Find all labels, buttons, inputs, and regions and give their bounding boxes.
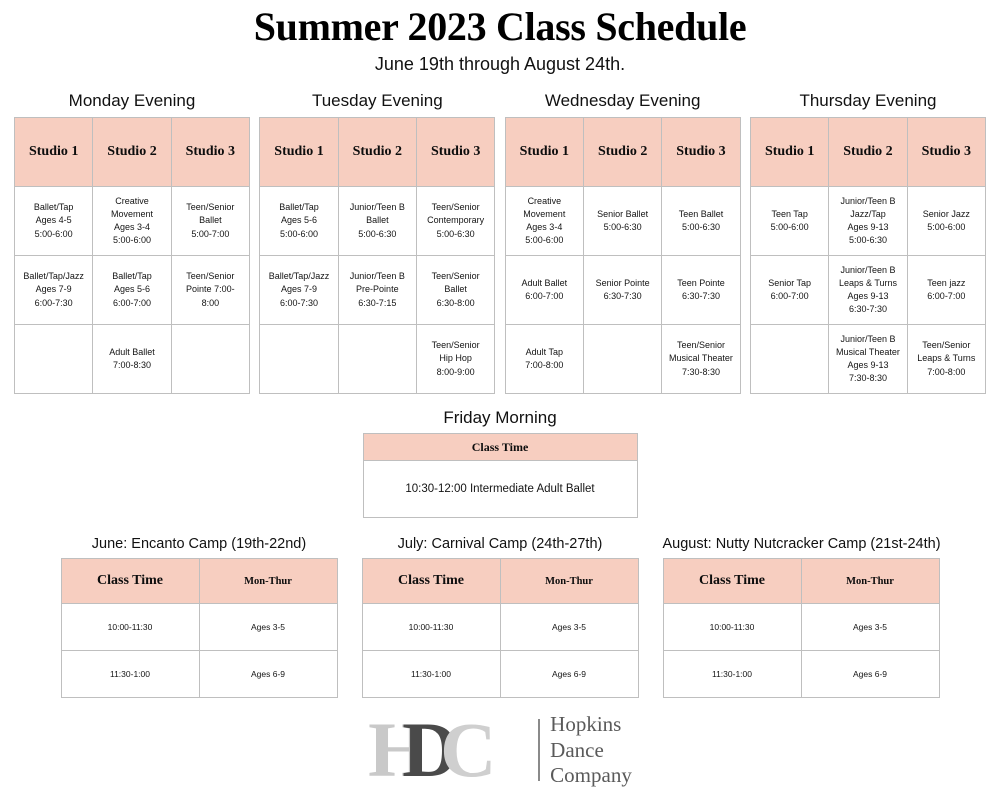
column-header-studio: Studio 3 [171,118,249,187]
logo-wordmark: Hopkins Dance Company [550,712,632,789]
friday-schedule: Friday Morning Class Time 10:30-12:00 In… [363,408,638,518]
class-cell: Teen Pointe6:30-7:30 [662,256,740,325]
class-cell-line: 6:00-7:00 [910,290,983,303]
class-cell-line: 5:00-6:00 [910,221,983,234]
class-cell-line: Teen/Senior [174,201,247,214]
class-cell: Ballet/TapAges 5-66:00-7:00 [93,256,171,325]
class-cell-line: 6:30-7:15 [341,297,414,310]
class-cell-line: Creative [508,195,581,208]
class-cell-line: Adult Ballet [508,277,581,290]
class-cell-line: Senior Tap [753,277,826,290]
class-cell: Teen/SeniorPointe 7:00-8:00 [171,256,249,325]
table-row: Ballet/TapAges 4-55:00-6:00CreativeMovem… [15,187,250,256]
table-row: 11:30-1:00Ages 6-9 [362,651,638,698]
class-cell-line: 7:00-8:30 [95,359,168,372]
class-cell-line: 6:30-8:00 [419,297,492,310]
class-cell-line: Ages 3-4 [508,221,581,234]
column-header-studio: Studio 2 [583,118,661,187]
table-row: Ballet/Tap/JazzAges 7-96:00-7:30Junior/T… [260,256,495,325]
column-header-studio: Studio 1 [750,118,828,187]
logo-line-dance: Dance [550,738,632,764]
friday-column-class-time: Class Time [363,434,637,461]
page-title: Summer 2023 Class Schedule [0,6,1000,48]
camp-ages-cell: Ages 6-9 [801,651,939,698]
class-cell-line: Movement [508,208,581,221]
class-cell-line: Pointe 7:00- [174,283,247,296]
class-cell: Teen Tap5:00-6:00 [750,187,828,256]
class-cell-line: Leaps & Turns [910,352,983,365]
table-row: 10:00-11:30Ages 3-5 [61,604,337,651]
class-cell: Senior Tap6:00-7:00 [750,256,828,325]
camp-ages-cell: Ages 3-5 [801,604,939,651]
class-cell-line: Creative [95,195,168,208]
day-heading: Tuesday Evening [259,91,495,111]
camp-time-cell: 11:30-1:00 [61,651,199,698]
day-heading: Wednesday Evening [505,91,741,111]
class-cell-line: Ages 5-6 [95,283,168,296]
class-cell: Teen/SeniorMusical Theater7:30-8:30 [662,325,740,394]
class-cell-line: Junior/Teen B [341,201,414,214]
table-header-row: Studio 1Studio 2Studio 3 [505,118,740,187]
class-cell: Junior/Teen BJazz/TapAges 9-135:00-6:30 [829,187,907,256]
hdc-monogram-icon: H D C [368,713,538,787]
camp-ages-cell: Ages 6-9 [199,651,337,698]
class-cell: CreativeMovementAges 3-45:00-6:00 [93,187,171,256]
table-row: CreativeMovementAges 3-45:00-6:00Senior … [505,187,740,256]
camp-table: Class TimeMon-Thur10:00-11:30Ages 3-511:… [61,558,338,698]
class-cell: Senior Pointe6:30-7:30 [583,256,661,325]
class-cell-line: Junior/Teen B [341,270,414,283]
table-row: Teen/SeniorHip Hop8:00-9:00 [260,325,495,394]
empty-cell [338,325,416,394]
column-header-days: Mon-Thur [500,559,638,604]
logo-line-hopkins: Hopkins [550,712,632,738]
class-cell-line: Ages 3-4 [95,221,168,234]
column-header-class-time: Class Time [61,559,199,604]
table-header-row: Studio 1Studio 2Studio 3 [260,118,495,187]
class-cell-line: Ballet/Tap [95,270,168,283]
class-cell-line: 8:00 [174,297,247,310]
class-cell-line: Adult Ballet [95,346,168,359]
empty-cell [260,325,338,394]
day-block: Wednesday EveningStudio 1Studio 2Studio … [505,91,741,394]
table-row: Junior/Teen BMusical TheaterAges 9-137:3… [750,325,985,394]
column-header-days: Mon-Thur [801,559,939,604]
class-cell-line: Senior Jazz [910,208,983,221]
weekday-schedules: Monday EveningStudio 1Studio 2Studio 3Ba… [0,91,1000,394]
class-cell-line: Teen Tap [753,208,826,221]
class-cell-line: Leaps & Turns [831,277,904,290]
camp-time-cell: 11:30-1:00 [362,651,500,698]
class-cell-line: Musical Theater [831,346,904,359]
class-cell: Junior/Teen BPre-Pointe6:30-7:15 [338,256,416,325]
class-cell-line: 6:30-7:30 [586,290,659,303]
class-cell-line: 5:00-6:00 [17,228,90,241]
column-header-studio: Studio 1 [505,118,583,187]
class-cell-line: Senior Ballet [586,208,659,221]
class-cell-line: 6:00-7:00 [95,297,168,310]
class-cell-line: Senior Pointe [586,277,659,290]
class-cell: Junior/Teen BBallet5:00-6:30 [338,187,416,256]
friday-class-entry: 10:30-12:00 Intermediate Adult Ballet [363,461,637,518]
class-cell: Adult Ballet6:00-7:00 [505,256,583,325]
class-cell: Ballet/Tap/JazzAges 7-96:00-7:30 [260,256,338,325]
class-cell-line: Ages 7-9 [262,283,335,296]
class-cell: Teen Ballet5:00-6:30 [662,187,740,256]
camp-schedules: June: Encanto Camp (19th-22nd)Class Time… [0,536,1000,698]
class-cell-line: Junior/Teen B [831,264,904,277]
class-cell-line: 5:00-6:30 [664,221,737,234]
day-schedule-table: Studio 1Studio 2Studio 3Ballet/TapAges 5… [259,117,495,394]
column-header-class-time: Class Time [362,559,500,604]
class-cell-line: Teen/Senior [910,339,983,352]
class-cell: Teen/SeniorContemporary5:00-6:30 [416,187,494,256]
table-header-row: Studio 1Studio 2Studio 3 [750,118,985,187]
class-cell-line: Teen jazz [910,277,983,290]
column-header-studio: Studio 2 [338,118,416,187]
class-cell: CreativeMovementAges 3-45:00-6:00 [505,187,583,256]
empty-cell [15,325,93,394]
class-cell-line: Pre-Pointe [341,283,414,296]
table-row: 10:00-11:30Ages 3-5 [362,604,638,651]
table-row: 10:00-11:30Ages 3-5 [663,604,939,651]
camp-block: July: Carnival Camp (24th-27th)Class Tim… [362,536,639,698]
class-cell: Ballet/TapAges 5-65:00-6:00 [260,187,338,256]
column-header-studio: Studio 2 [829,118,907,187]
logo-area: H D C Hopkins Dance Company [0,712,1000,789]
logo-divider [538,719,540,781]
class-cell-line: 6:30-7:30 [831,303,904,316]
class-cell-line: 5:00-6:00 [95,234,168,247]
day-heading: Monday Evening [14,91,250,111]
class-cell-line: 5:00-6:30 [586,221,659,234]
class-cell-line: 8:00-9:00 [419,366,492,379]
class-cell-line: 5:00-7:00 [174,228,247,241]
camp-heading: June: Encanto Camp (19th-22nd) [61,536,338,552]
camp-heading: August: Nutty Nutcracker Camp (21st-24th… [663,536,940,552]
class-cell-line: Jazz/Tap [831,208,904,221]
column-header-studio: Studio 1 [260,118,338,187]
class-cell-line: Contemporary [419,214,492,227]
class-cell-line: Movement [95,208,168,221]
class-cell-line: 5:00-6:30 [419,228,492,241]
class-cell: Ballet/TapAges 4-55:00-6:00 [15,187,93,256]
class-cell: Junior/Teen BLeaps & TurnsAges 9-136:30-… [829,256,907,325]
class-cell-line: 6:00-7:30 [262,297,335,310]
day-block: Monday EveningStudio 1Studio 2Studio 3Ba… [14,91,250,394]
table-row: Adult Ballet7:00-8:30 [15,325,250,394]
class-cell-line: Teen/Senior [419,339,492,352]
class-cell-line: Teen/Senior [419,201,492,214]
table-row: 11:30-1:00Ages 6-9 [61,651,337,698]
class-cell-line: Ages 4-5 [17,214,90,227]
class-cell-line: Ballet [341,214,414,227]
class-cell-line: Ballet/Tap/Jazz [17,270,90,283]
column-header-studio: Studio 2 [93,118,171,187]
class-cell-line: Ballet/Tap [262,201,335,214]
class-cell-line: Ages 5-6 [262,214,335,227]
class-cell-line: Ballet [174,214,247,227]
class-cell-line: 5:00-6:00 [508,234,581,247]
class-cell: Senior Ballet5:00-6:30 [583,187,661,256]
empty-cell [583,325,661,394]
class-cell-line: 7:00-8:00 [910,366,983,379]
class-cell-line: Ages 7-9 [17,283,90,296]
class-cell-line: 6:30-7:30 [664,290,737,303]
camp-ages-cell: Ages 3-5 [199,604,337,651]
class-cell-line: Ages 9-13 [831,221,904,234]
camp-time-cell: 10:00-11:30 [61,604,199,651]
class-cell: Teen/SeniorBallet5:00-7:00 [171,187,249,256]
friday-table: Class Time 10:30-12:00 Intermediate Adul… [363,433,638,518]
class-cell-line: 7:30-8:30 [664,366,737,379]
camp-time-cell: 10:00-11:30 [362,604,500,651]
class-cell: Teen jazz6:00-7:00 [907,256,985,325]
class-cell-line: Teen/Senior [664,339,737,352]
day-schedule-table: Studio 1Studio 2Studio 3Ballet/TapAges 4… [14,117,250,394]
column-header-studio: Studio 3 [416,118,494,187]
camp-heading: July: Carnival Camp (24th-27th) [362,536,639,552]
day-schedule-table: Studio 1Studio 2Studio 3Teen Tap5:00-6:0… [750,117,986,394]
table-header-row: Studio 1Studio 2Studio 3 [15,118,250,187]
class-cell-line: Junior/Teen B [831,333,904,346]
friday-heading: Friday Morning [363,408,638,428]
empty-cell [171,325,249,394]
table-row: Adult Tap7:00-8:00Teen/SeniorMusical The… [505,325,740,394]
class-cell-line: 6:00-7:00 [508,290,581,303]
table-header-row: Class TimeMon-Thur [61,559,337,604]
table-header-row: Class TimeMon-Thur [362,559,638,604]
class-cell-line: 6:00-7:30 [17,297,90,310]
class-cell-line: Ballet/Tap/Jazz [262,270,335,283]
page-subtitle: June 19th through August 24th. [0,54,1000,75]
day-block: Thursday EveningStudio 1Studio 2Studio 3… [750,91,986,394]
class-cell-line: Teen Ballet [664,208,737,221]
class-cell-line: Adult Tap [508,346,581,359]
camp-block: August: Nutty Nutcracker Camp (21st-24th… [663,536,940,698]
column-header-studio: Studio 1 [15,118,93,187]
class-cell-line: 6:00-7:00 [753,290,826,303]
class-cell-line: 5:00-6:30 [341,228,414,241]
class-cell: Junior/Teen BMusical TheaterAges 9-137:3… [829,325,907,394]
day-heading: Thursday Evening [750,91,986,111]
class-cell: Adult Ballet7:00-8:30 [93,325,171,394]
camp-ages-cell: Ages 3-5 [500,604,638,651]
column-header-studio: Studio 3 [907,118,985,187]
camp-time-cell: 11:30-1:00 [663,651,801,698]
camp-ages-cell: Ages 6-9 [500,651,638,698]
class-cell: Ballet/Tap/JazzAges 7-96:00-7:30 [15,256,93,325]
class-cell-line: Ballet/Tap [17,201,90,214]
logo-line-company: Company [550,763,632,789]
class-cell-line: 5:00-6:00 [262,228,335,241]
class-cell-line: Ages 9-13 [831,290,904,303]
column-header-class-time: Class Time [663,559,801,604]
title-block: Summer 2023 Class Schedule June 19th thr… [0,0,1000,75]
table-row: Ballet/Tap/JazzAges 7-96:00-7:30Ballet/T… [15,256,250,325]
class-cell-line: Musical Theater [664,352,737,365]
class-cell: Teen/SeniorLeaps & Turns7:00-8:00 [907,325,985,394]
friday-header-row: Class Time [363,434,637,461]
hopkins-dance-company-logo: H D C Hopkins Dance Company [368,712,632,789]
class-cell: Teen/SeniorBallet6:30-8:00 [416,256,494,325]
table-row: 11:30-1:00Ages 6-9 [663,651,939,698]
column-header-studio: Studio 3 [662,118,740,187]
table-row: Ballet/TapAges 5-65:00-6:00Junior/Teen B… [260,187,495,256]
class-cell-line: 5:00-6:00 [753,221,826,234]
class-cell-line: Junior/Teen B [831,195,904,208]
logo-letter-c: C [440,713,496,787]
camp-time-cell: 10:00-11:30 [663,604,801,651]
column-header-days: Mon-Thur [199,559,337,604]
class-cell: Adult Tap7:00-8:00 [505,325,583,394]
table-row: Adult Ballet6:00-7:00Senior Pointe6:30-7… [505,256,740,325]
class-cell-line: 5:00-6:30 [831,234,904,247]
camp-table: Class TimeMon-Thur10:00-11:30Ages 3-511:… [663,558,940,698]
class-cell: Senior Jazz5:00-6:00 [907,187,985,256]
table-header-row: Class TimeMon-Thur [663,559,939,604]
class-cell-line: Teen/Senior [419,270,492,283]
table-row: 10:30-12:00 Intermediate Adult Ballet [363,461,637,518]
class-cell-line: 7:00-8:00 [508,359,581,372]
day-block: Tuesday EveningStudio 1Studio 2Studio 3B… [259,91,495,394]
table-row: Senior Tap6:00-7:00Junior/Teen BLeaps & … [750,256,985,325]
table-row: Teen Tap5:00-6:00Junior/Teen BJazz/TapAg… [750,187,985,256]
day-schedule-table: Studio 1Studio 2Studio 3CreativeMovement… [505,117,741,394]
camp-block: June: Encanto Camp (19th-22nd)Class Time… [61,536,338,698]
class-cell-line: Ballet [419,283,492,296]
camp-table: Class TimeMon-Thur10:00-11:30Ages 3-511:… [362,558,639,698]
class-cell-line: Teen Pointe [664,277,737,290]
class-cell-line: Ages 9-13 [831,359,904,372]
class-cell: Teen/SeniorHip Hop8:00-9:00 [416,325,494,394]
class-cell-line: 7:30-8:30 [831,372,904,385]
class-cell-line: Teen/Senior [174,270,247,283]
class-cell-line: Hip Hop [419,352,492,365]
empty-cell [750,325,828,394]
